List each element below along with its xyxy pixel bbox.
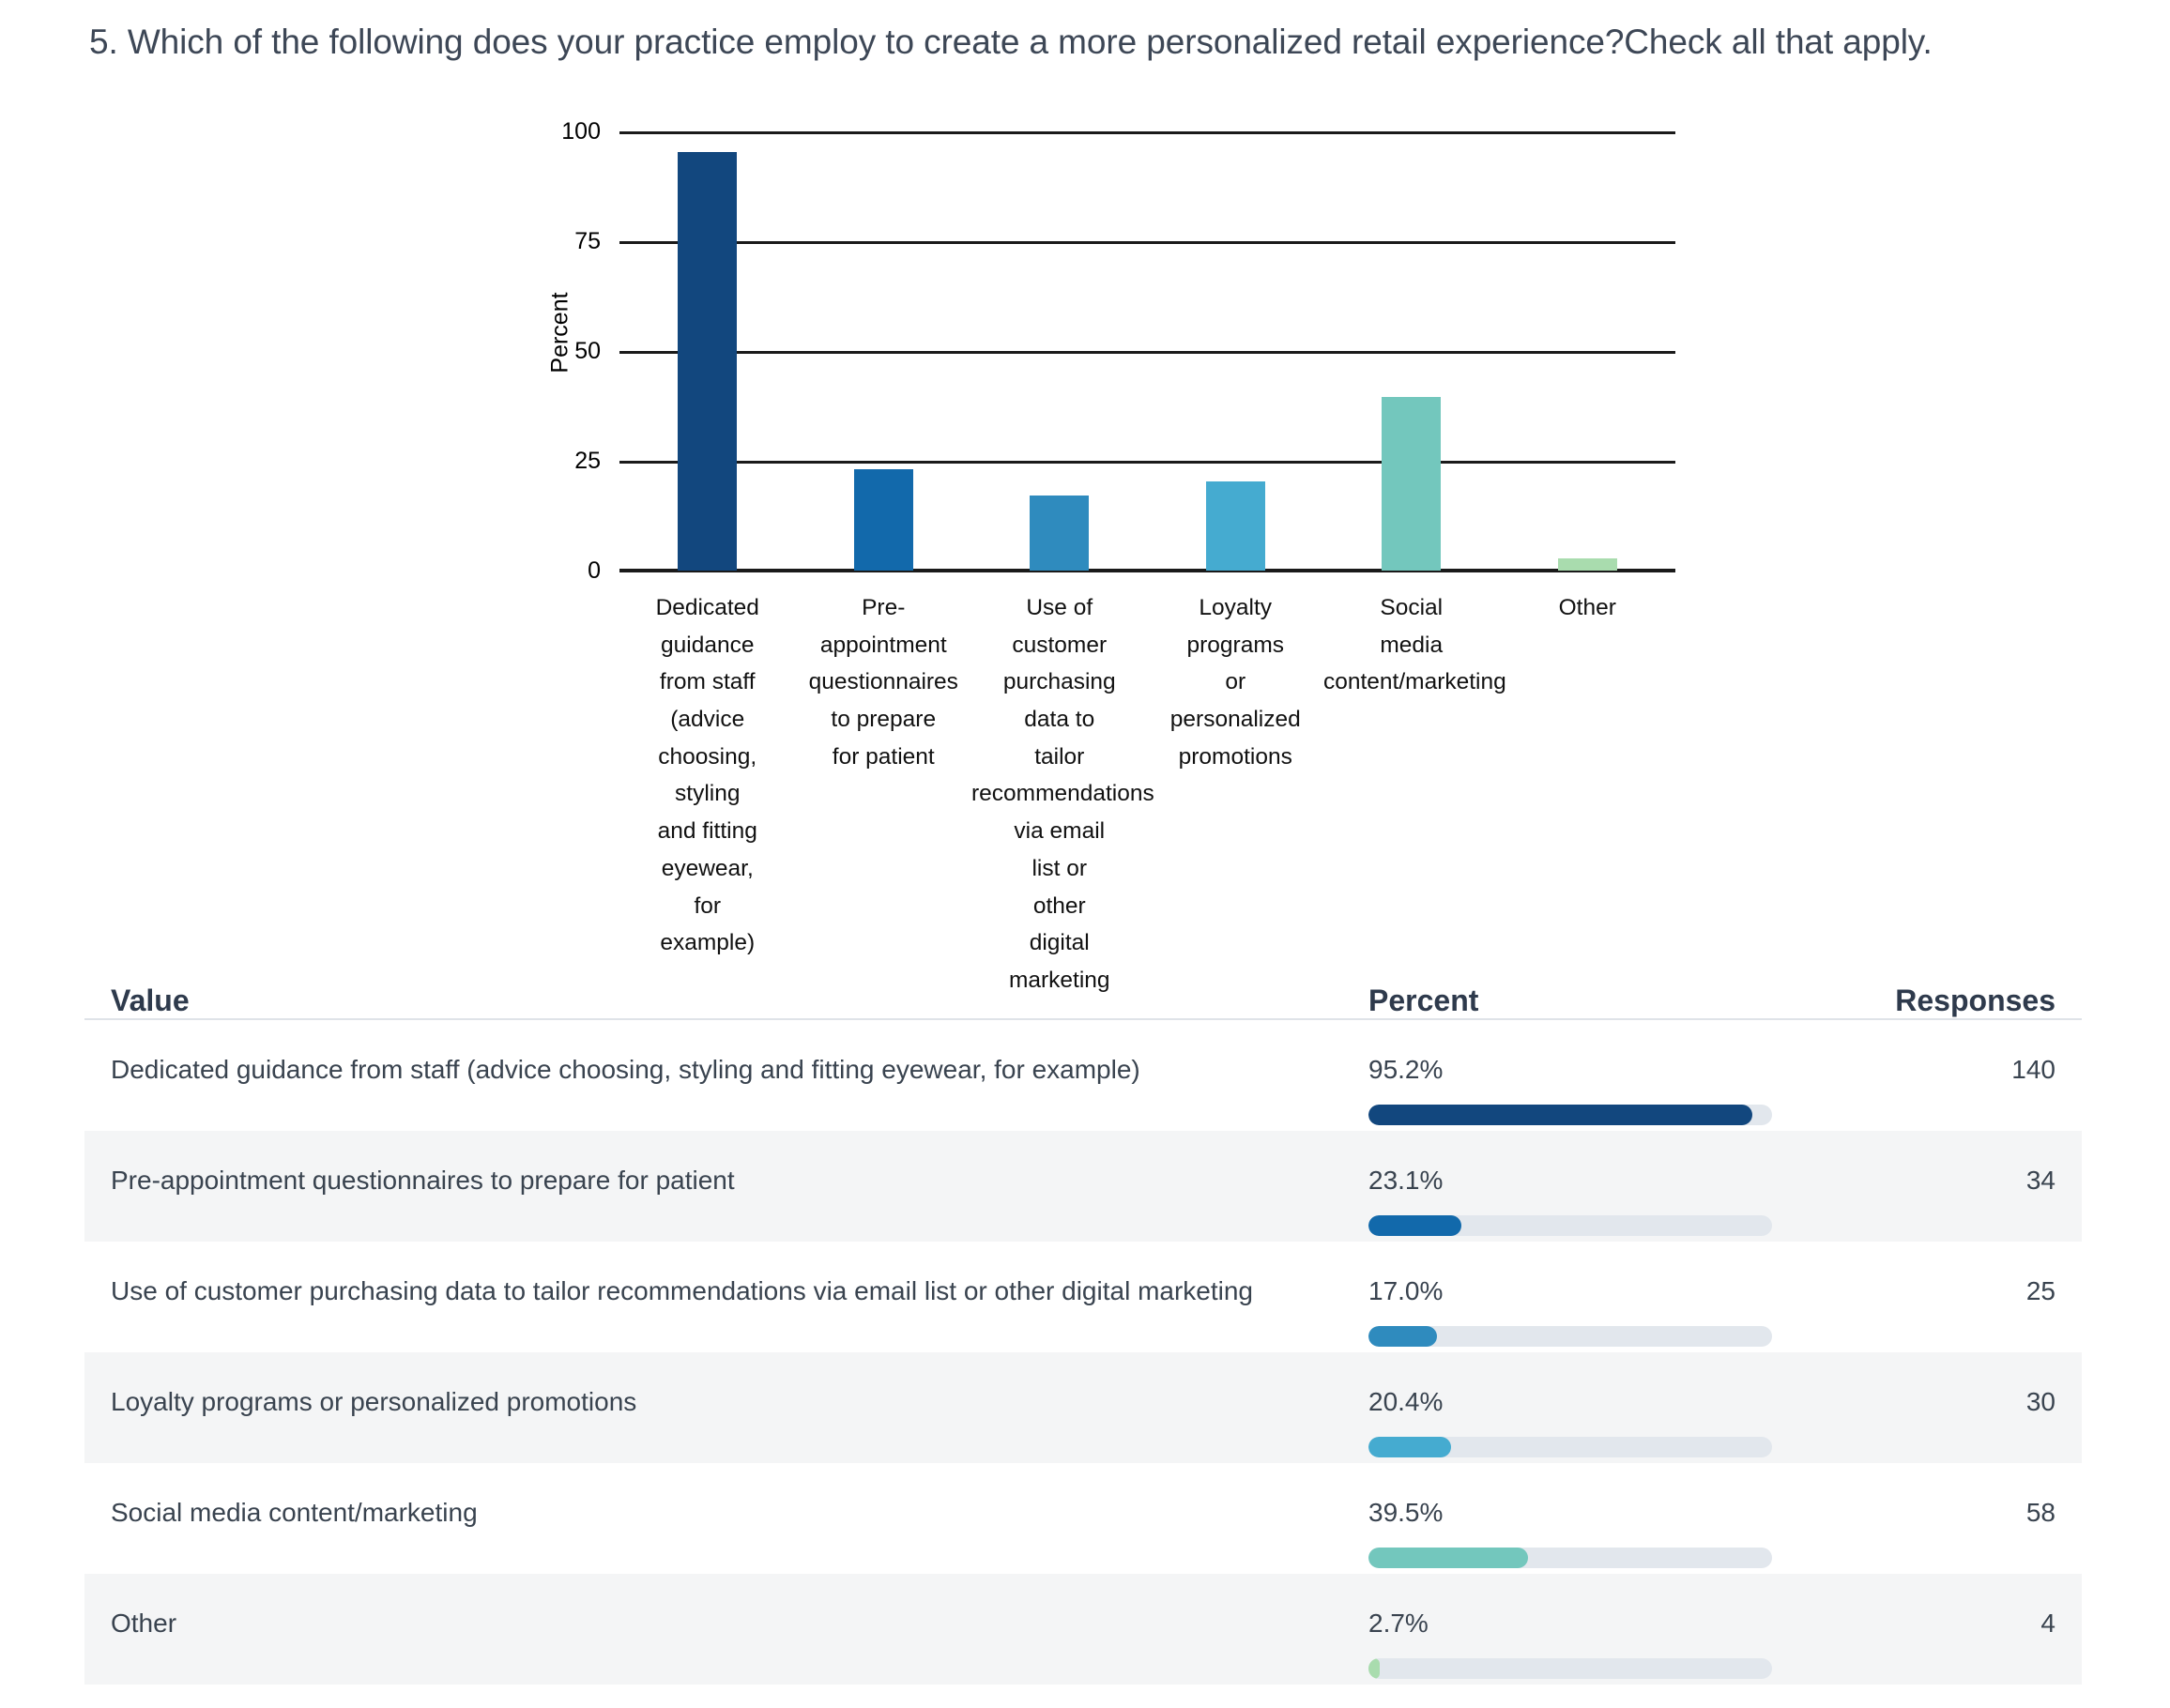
table-row: Social media content/marketing39.5%58: [84, 1463, 2082, 1574]
x-label-3: Loyalty programs or personalized promoti…: [1148, 589, 1324, 775]
cell-percent: 95.2%: [1368, 1054, 1828, 1125]
column-header-responses: Responses: [1828, 984, 2055, 1018]
percent-label: 20.4%: [1368, 1386, 1828, 1418]
plot-area: [619, 131, 1675, 572]
table-row: Other2.7%4: [84, 1574, 2082, 1685]
percent-bar-track: [1368, 1326, 1772, 1347]
percent-label: 23.1%: [1368, 1165, 1828, 1197]
x-label-0: Dedicated guidance from staff (advice ch…: [619, 589, 796, 962]
cell-responses: 140: [1828, 1054, 2055, 1086]
cell-value: Other: [111, 1608, 1368, 1639]
cell-value: Pre-appointment questionnaires to prepar…: [111, 1165, 1368, 1197]
percent-bar-fill: [1368, 1215, 1461, 1236]
cell-percent: 2.7%: [1368, 1608, 1828, 1679]
bar-5: [1558, 558, 1617, 571]
page-title: 5. Which of the following does your prac…: [89, 19, 2088, 65]
cell-value: Loyalty programs or personalized promoti…: [111, 1386, 1368, 1418]
bar-chart: Percent 100 75 50 25 0 Dedicated guidanc…: [0, 131, 2170, 929]
table-row: Loyalty programs or personalized promoti…: [84, 1352, 2082, 1463]
column-header-value: Value: [111, 984, 1368, 1018]
cell-responses: 34: [1828, 1165, 2055, 1197]
cell-percent: 23.1%: [1368, 1165, 1828, 1236]
table-row: Use of customer purchasing data to tailo…: [84, 1242, 2082, 1352]
bar-group: [619, 131, 1675, 572]
y-tick-75: 75: [516, 230, 601, 253]
percent-bar-track: [1368, 1658, 1772, 1679]
y-tick-100: 100: [516, 120, 601, 144]
bar-3: [1206, 481, 1265, 571]
results-table: Value Percent Responses Dedicated guidan…: [84, 953, 2082, 1685]
bar-0: [678, 152, 737, 571]
percent-label: 17.0%: [1368, 1275, 1828, 1307]
cell-value: Social media content/marketing: [111, 1497, 1368, 1529]
percent-bar-track: [1368, 1215, 1772, 1236]
percent-bar-track: [1368, 1105, 1772, 1125]
table-header-row: Value Percent Responses: [84, 953, 2082, 1020]
cell-percent: 20.4%: [1368, 1386, 1828, 1457]
cell-value: Use of customer purchasing data to tailo…: [111, 1275, 1368, 1307]
x-label-1: Pre- appointment questionnaires to prepa…: [796, 589, 972, 775]
bar-1: [854, 469, 913, 571]
percent-bar-fill: [1368, 1437, 1451, 1457]
x-label-4: Social media content/marketing: [1323, 589, 1500, 701]
x-label-2: Use of customer purchasing data to tailo…: [971, 589, 1148, 999]
x-label-5: Other: [1500, 589, 1676, 627]
bar-2: [1030, 496, 1089, 571]
table-body: Dedicated guidance from staff (advice ch…: [84, 1020, 2082, 1685]
percent-bar-fill: [1368, 1548, 1528, 1568]
cell-value: Dedicated guidance from staff (advice ch…: [111, 1054, 1368, 1086]
cell-responses: 4: [1828, 1608, 2055, 1639]
cell-percent: 17.0%: [1368, 1275, 1828, 1347]
percent-bar-fill: [1368, 1105, 1752, 1125]
x-axis-labels: Dedicated guidance from staff (advice ch…: [619, 589, 1675, 899]
y-tick-50: 50: [516, 340, 601, 363]
percent-label: 95.2%: [1368, 1054, 1828, 1086]
cell-percent: 39.5%: [1368, 1497, 1828, 1568]
table-row: Dedicated guidance from staff (advice ch…: [84, 1020, 2082, 1131]
column-header-percent: Percent: [1368, 984, 1828, 1018]
y-tick-25: 25: [516, 450, 601, 473]
cell-responses: 25: [1828, 1275, 2055, 1307]
percent-bar-track: [1368, 1548, 1772, 1568]
percent-bar-fill: [1368, 1658, 1380, 1679]
cell-responses: 30: [1828, 1386, 2055, 1418]
y-tick-0: 0: [516, 559, 601, 583]
cell-responses: 58: [1828, 1497, 2055, 1529]
table-row: Pre-appointment questionnaires to prepar…: [84, 1131, 2082, 1242]
percent-label: 39.5%: [1368, 1497, 1828, 1529]
y-axis-ticks: 100 75 50 25 0: [507, 131, 601, 572]
percent-label: 2.7%: [1368, 1608, 1828, 1639]
bar-4: [1382, 397, 1441, 571]
percent-bar-fill: [1368, 1326, 1437, 1347]
percent-bar-track: [1368, 1437, 1772, 1457]
